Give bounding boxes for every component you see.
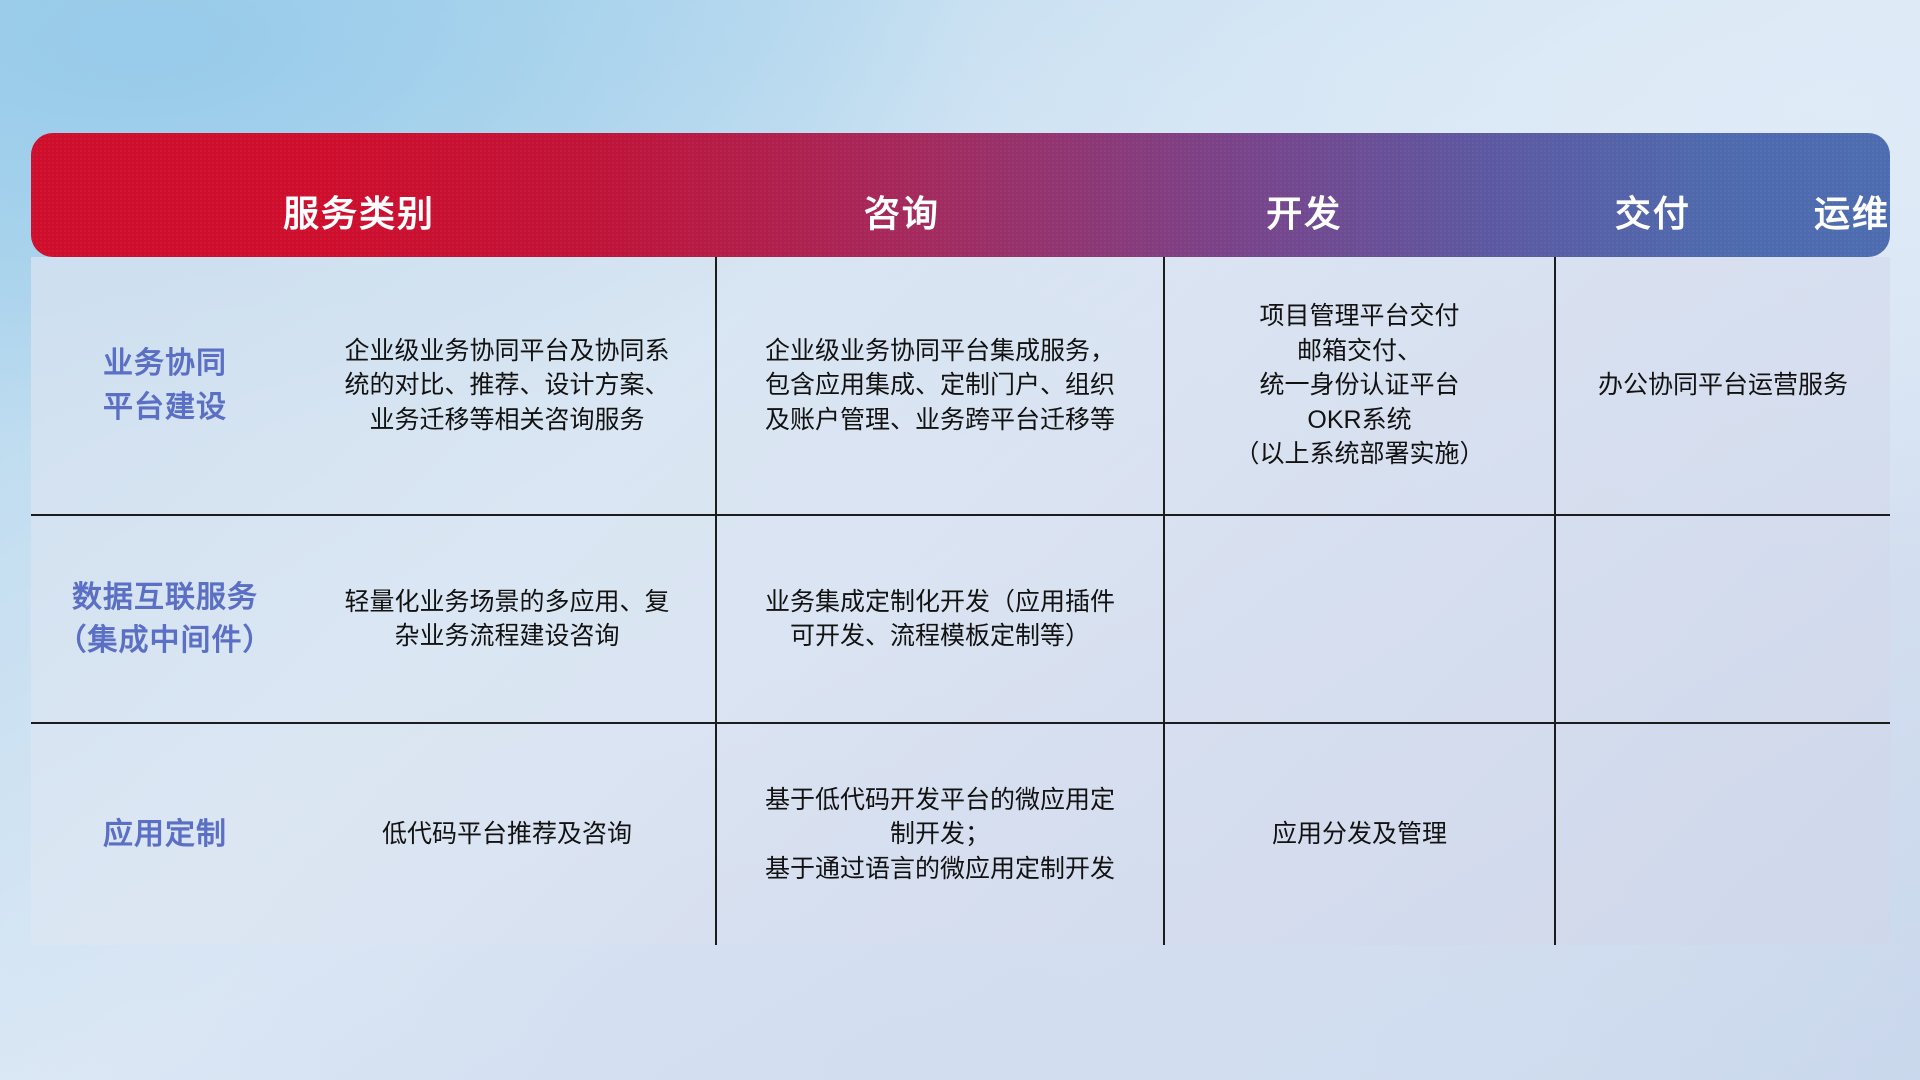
- cell-delivery: 项目管理平台交付 邮箱交付、 统一身份认证平台 OKR系统 （以上系统部署实施）: [1163, 257, 1554, 514]
- row-label-cell: 业务协同 平台建设 企业级业务协同平台及协同系 统的对比、推荐、设计方案、 业务…: [31, 257, 715, 514]
- cell-development: 企业级业务协同平台集成服务， 包含应用集成、定制门户、组织 及账户管理、业务跨平…: [715, 257, 1163, 514]
- column-header-service-category: 服务类别: [31, 185, 687, 237]
- table-row: 应用定制 低代码平台推荐及咨询 基于低代码开发平台的微应用定 制开发； 基于通过…: [31, 722, 1890, 945]
- cell-operations: [1554, 724, 1890, 945]
- column-header-operations: 运维: [1814, 185, 1890, 237]
- cell-delivery: [1163, 516, 1554, 722]
- cell-operations: [1554, 516, 1890, 722]
- cell-delivery: 应用分发及管理: [1163, 724, 1554, 945]
- column-header-delivery: 交付: [1492, 185, 1814, 237]
- column-header-development: 开发: [1117, 185, 1492, 237]
- row-label-cell: 应用定制 低代码平台推荐及咨询: [31, 724, 715, 945]
- table-header-band: 服务类别 咨询 开发 交付 运维: [31, 133, 1890, 257]
- row-label-cell: 数据互联服务 （集成中间件） 轻量化业务场景的多应用、复 杂业务流程建设咨询: [31, 516, 715, 722]
- table-body: 业务协同 平台建设 企业级业务协同平台及协同系 统的对比、推荐、设计方案、 业务…: [31, 257, 1890, 945]
- row-label-data-interconnection: 数据互联服务 （集成中间件）: [57, 576, 274, 663]
- cell-operations: 办公协同平台运营服务: [1554, 257, 1890, 514]
- row-label-application-customization: 应用定制: [103, 813, 227, 857]
- column-header-consulting: 咨询: [687, 185, 1117, 237]
- row-label-wrapper: 数据互联服务 （集成中间件）: [31, 576, 299, 663]
- service-matrix-table: 服务类别 咨询 开发 交付 运维 业务协同 平台建设 企业级业务协同平台及协同系…: [31, 133, 1890, 945]
- row-label-business-collaboration: 业务协同 平台建设: [103, 342, 227, 429]
- cell-consulting: 轻量化业务场景的多应用、复 杂业务流程建设咨询: [299, 579, 715, 660]
- cell-development: 基于低代码开发平台的微应用定 制开发； 基于通过语言的微应用定制开发: [715, 724, 1163, 945]
- cell-consulting: 低代码平台推荐及咨询: [299, 811, 715, 858]
- row-label-wrapper: 应用定制: [31, 813, 299, 857]
- table-row: 业务协同 平台建设 企业级业务协同平台及协同系 统的对比、推荐、设计方案、 业务…: [31, 257, 1890, 514]
- cell-development: 业务集成定制化开发（应用插件 可开发、流程模板定制等）: [715, 516, 1163, 722]
- row-label-wrapper: 业务协同 平台建设: [31, 342, 299, 429]
- slide-canvas: 服务类别 咨询 开发 交付 运维 业务协同 平台建设 企业级业务协同平台及协同系…: [0, 0, 1920, 1080]
- cell-consulting: 企业级业务协同平台及协同系 统的对比、推荐、设计方案、 业务迁移等相关咨询服务: [299, 328, 715, 444]
- table-row: 数据互联服务 （集成中间件） 轻量化业务场景的多应用、复 杂业务流程建设咨询 业…: [31, 514, 1890, 722]
